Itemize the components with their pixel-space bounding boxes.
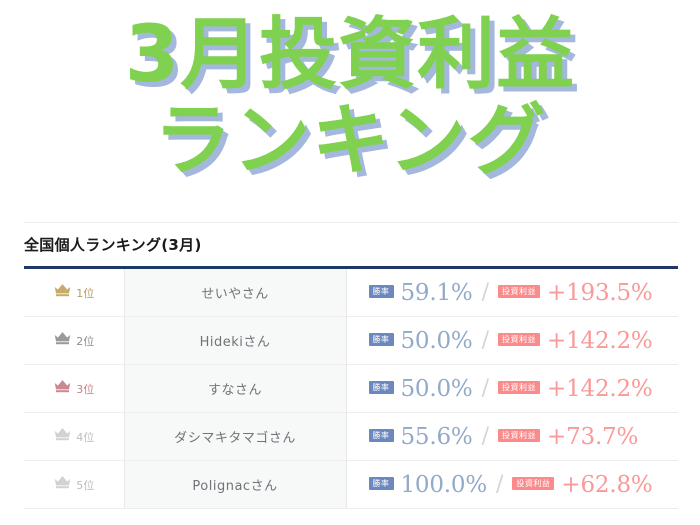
table-row[interactable]: 2位 Hidekiさん 勝率 50.0% / 投資利益 +142.2% <box>24 317 678 365</box>
hero-banner: 3月投資利益 ランキング <box>0 0 700 215</box>
stats-cell: 勝率 50.0% / 投資利益 +142.2% <box>346 317 678 365</box>
ranking-table: 1位 せいやさん 勝率 59.1% / 投資利益 +193.5% <box>24 266 678 509</box>
win-rate-badge: 勝率 <box>369 477 394 490</box>
rank-cell: 3位 <box>24 365 124 413</box>
rank-label: 1位 <box>76 285 94 301</box>
user-name: すなさん <box>208 383 262 398</box>
profit-badge: 投資利益 <box>498 285 540 298</box>
win-rate-badge: 勝率 <box>369 381 394 394</box>
crown-icon-silver <box>53 331 72 350</box>
rank-label: 4位 <box>76 429 94 445</box>
hero-title-line-1: 3月投資利益 <box>125 8 575 102</box>
user-name-cell: ダシマキタマゴさん <box>124 413 346 461</box>
user-name: せいやさん <box>201 287 269 302</box>
profit-badge: 投資利益 <box>498 429 540 442</box>
rank-cell: 5位 <box>24 461 124 509</box>
stats-separator: / <box>496 472 503 497</box>
stats-separator: / <box>482 280 489 305</box>
profit-badge: 投資利益 <box>498 381 540 394</box>
stats-cell: 勝率 59.1% / 投資利益 +193.5% <box>346 268 678 317</box>
crown-icon-plain <box>53 475 72 494</box>
profit-value: +193.5% <box>547 280 653 306</box>
win-rate-value: 50.0% <box>401 376 473 402</box>
profit-value: +142.2% <box>547 328 653 354</box>
stats-cell: 勝率 55.6% / 投資利益 +73.7% <box>346 413 678 461</box>
stats-separator: / <box>482 376 489 401</box>
crown-icon-plain <box>53 427 72 446</box>
stats-cell: 勝率 50.0% / 投資利益 +142.2% <box>346 365 678 413</box>
user-name-cell: Hidekiさん <box>124 317 346 365</box>
table-row[interactable]: 3位 すなさん 勝率 50.0% / 投資利益 +142.2% <box>24 365 678 413</box>
rank-label: 5位 <box>76 477 94 493</box>
table-row[interactable]: 5位 Polignacさん 勝率 100.0% / 投資利益 +62.8% <box>24 461 678 509</box>
win-rate-badge: 勝率 <box>369 333 394 346</box>
section-heading: 全国個人ランキング(3月) <box>24 234 202 255</box>
profit-value: +142.2% <box>547 376 653 402</box>
profit-badge: 投資利益 <box>498 333 540 346</box>
user-name-cell: Polignacさん <box>124 461 346 509</box>
win-rate-badge: 勝率 <box>369 429 394 442</box>
profit-badge: 投資利益 <box>512 477 554 490</box>
table-row[interactable]: 4位 ダシマキタマゴさん 勝率 55.6% / 投資利益 +73.7% <box>24 413 678 461</box>
win-rate-value: 59.1% <box>401 280 473 306</box>
table-row[interactable]: 1位 せいやさん 勝率 59.1% / 投資利益 +193.5% <box>24 268 678 317</box>
stats-cell: 勝率 100.0% / 投資利益 +62.8% <box>346 461 678 509</box>
rank-label: 2位 <box>76 333 94 349</box>
rank-label: 3位 <box>76 381 94 397</box>
win-rate-value: 50.0% <box>401 328 473 354</box>
rank-cell: 4位 <box>24 413 124 461</box>
ranking-table-body: 1位 せいやさん 勝率 59.1% / 投資利益 +193.5% <box>24 268 678 509</box>
rank-cell: 2位 <box>24 317 124 365</box>
top-divider <box>24 222 678 223</box>
crown-icon-bronze <box>53 379 72 398</box>
rank-cell: 1位 <box>24 268 124 317</box>
profit-value: +73.7% <box>547 424 638 450</box>
win-rate-value: 100.0% <box>401 472 488 498</box>
hero-title-line-2: ランキング <box>154 94 547 188</box>
user-name-cell: せいやさん <box>124 268 346 317</box>
stats-separator: / <box>482 328 489 353</box>
user-name-cell: すなさん <box>124 365 346 413</box>
profit-value: +62.8% <box>561 472 652 498</box>
stats-separator: / <box>482 424 489 449</box>
user-name: Polignacさん <box>192 479 277 494</box>
win-rate-value: 55.6% <box>401 424 473 450</box>
user-name: ダシマキタマゴさん <box>174 431 296 446</box>
win-rate-badge: 勝率 <box>369 285 394 298</box>
crown-icon-gold <box>53 283 72 302</box>
user-name: Hidekiさん <box>200 335 271 350</box>
